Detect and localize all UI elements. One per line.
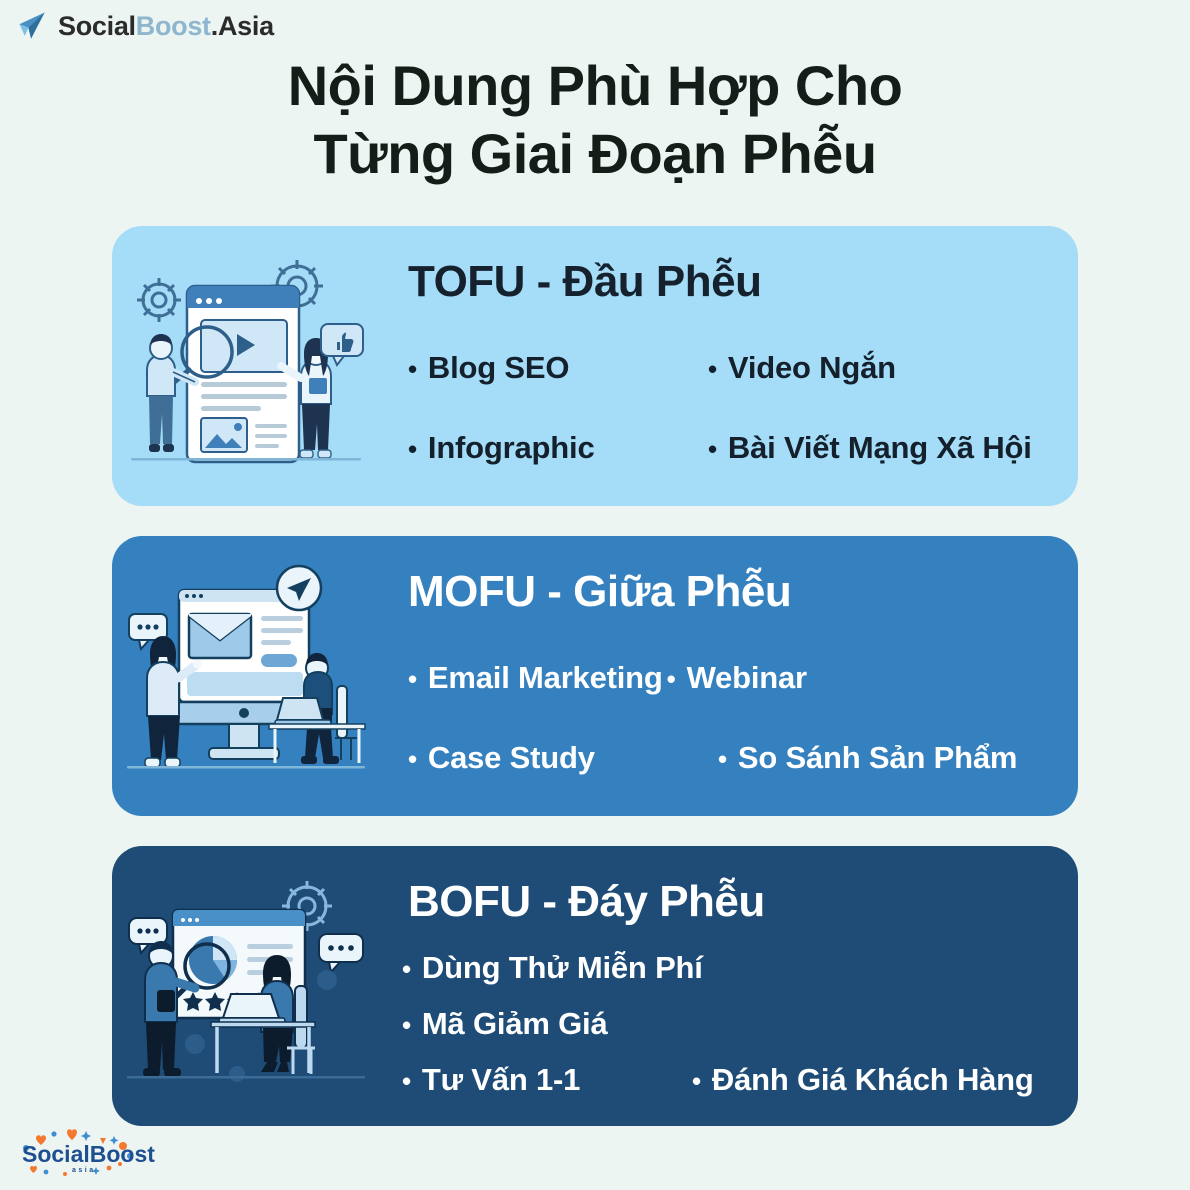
watermark-subtext: asia xyxy=(72,1167,96,1174)
card-tofu-bullets: •Blog SEO •Video Ngắn •Infographic •Bài … xyxy=(390,328,1052,488)
list-item: •Infographic xyxy=(408,430,708,466)
paper-plane-icon xyxy=(14,8,50,44)
list-item-label: Webinar xyxy=(687,660,807,696)
bullet-row: •Infographic •Bài Viết Mạng Xã Hội xyxy=(390,430,1052,466)
footer-watermark-logo: SocialBoost asia xyxy=(10,1124,160,1182)
brand-name: SocialBoost.Asia xyxy=(58,11,274,42)
bullet-dot-icon: • xyxy=(408,356,417,382)
brand-name-part3: .Asia xyxy=(211,11,274,41)
card-bofu-bullets: •Dùng Thử Miễn Phí •Mã Giảm Giá •Tư Vấn … xyxy=(390,940,1052,1108)
list-item: •Email Marketing xyxy=(408,660,663,696)
browser-video-content-illustration xyxy=(112,226,380,506)
bullet-row: •Case Study •So Sánh Sản Phẩm xyxy=(390,740,1052,776)
list-item: •Webinar xyxy=(667,660,807,696)
bullet-row: •Blog SEO •Video Ngắn xyxy=(390,350,1052,386)
bullet-dot-icon: • xyxy=(408,746,417,772)
card-tofu-body: TOFU - Đầu Phễu •Blog SEO •Video Ngắn •I… xyxy=(380,226,1078,506)
bullet-dot-icon: • xyxy=(718,746,727,772)
brand-name-part2: Boost xyxy=(136,11,211,41)
bullet-dot-icon: • xyxy=(692,1068,701,1094)
list-item-label: Email Marketing xyxy=(428,660,663,696)
list-item-label: Infographic xyxy=(428,430,595,466)
card-bofu-heading: BOFU - Đáy Phễu xyxy=(408,878,1052,926)
card-mofu-bullets: •Email Marketing •Webinar •Case Study •S… xyxy=(390,638,1052,798)
bullet-row: •Dùng Thử Miễn Phí xyxy=(390,950,1052,986)
card-bofu-body: BOFU - Đáy Phễu •Dùng Thử Miễn Phí •Mã G… xyxy=(380,846,1078,1126)
list-item: •Bài Viết Mạng Xã Hội xyxy=(708,430,1032,466)
bullet-dot-icon: • xyxy=(402,1012,411,1038)
list-item: •Dùng Thử Miễn Phí xyxy=(402,950,692,986)
card-mofu-heading: MOFU - Giữa Phễu xyxy=(408,568,1052,616)
list-item-label: Case Study xyxy=(428,740,595,776)
bullet-dot-icon: • xyxy=(402,1068,411,1094)
bullet-dot-icon: • xyxy=(708,436,717,462)
monitor-email-desk-illustration xyxy=(112,536,380,816)
list-item-label: So Sánh Sản Phẩm xyxy=(738,740,1017,776)
card-tofu: TOFU - Đầu Phễu •Blog SEO •Video Ngắn •I… xyxy=(112,226,1078,506)
card-bofu: BOFU - Đáy Phễu •Dùng Thử Miễn Phí •Mã G… xyxy=(112,846,1078,1126)
card-mofu: MOFU - Giữa Phễu •Email Marketing •Webin… xyxy=(112,536,1078,816)
list-item-label: Bài Viết Mạng Xã Hội xyxy=(728,430,1032,466)
bullet-dot-icon: • xyxy=(402,956,411,982)
page-title-line-1: Nội Dung Phù Hợp Cho xyxy=(0,52,1190,120)
list-item: •Case Study xyxy=(408,740,718,776)
paper-plane-badge-icon xyxy=(277,566,321,610)
bullet-dot-icon: • xyxy=(667,666,676,692)
list-item: •Đánh Giá Khách Hàng xyxy=(692,1062,1034,1098)
bullet-dot-icon: • xyxy=(708,356,717,382)
card-mofu-body: MOFU - Giữa Phễu •Email Marketing •Webin… xyxy=(380,536,1078,816)
page-title: Nội Dung Phù Hợp Cho Từng Giai Đoạn Phễu xyxy=(0,52,1190,189)
list-item: •Mã Giảm Giá xyxy=(402,1006,692,1042)
list-item-label: Đánh Giá Khách Hàng xyxy=(712,1062,1034,1098)
list-item-label: Blog SEO xyxy=(428,350,569,386)
bullet-row: •Email Marketing •Webinar xyxy=(390,660,1052,696)
list-item: •Blog SEO xyxy=(408,350,708,386)
bullet-dot-icon: • xyxy=(408,666,417,692)
page-title-line-2: Từng Giai Đoạn Phễu xyxy=(0,120,1190,188)
list-item: •Tư Vấn 1-1 xyxy=(402,1062,692,1098)
list-item: •So Sánh Sản Phẩm xyxy=(718,740,1017,776)
watermark-text: SocialBoost xyxy=(22,1141,155,1167)
list-item-label: Dùng Thử Miễn Phí xyxy=(422,950,703,986)
chat-bubble-icon xyxy=(319,934,363,972)
bullet-row: •Mã Giảm Giá xyxy=(390,1006,1052,1042)
list-item-label: Video Ngắn xyxy=(728,350,896,386)
funnel-stage-card-list: TOFU - Đầu Phễu •Blog SEO •Video Ngắn •I… xyxy=(112,226,1078,1156)
bullet-row: •Tư Vấn 1-1 •Đánh Giá Khách Hàng xyxy=(390,1062,1052,1098)
list-item-label: Mã Giảm Giá xyxy=(422,1006,608,1042)
brand-name-part1: Social xyxy=(58,11,136,41)
brand-logo: SocialBoost.Asia xyxy=(14,8,274,44)
dashboard-rating-desk-illustration xyxy=(112,846,380,1126)
card-tofu-heading: TOFU - Đầu Phễu xyxy=(408,258,1052,306)
bullet-dot-icon: • xyxy=(408,436,417,462)
list-item: •Video Ngắn xyxy=(708,350,896,386)
list-item-label: Tư Vấn 1-1 xyxy=(422,1062,580,1098)
